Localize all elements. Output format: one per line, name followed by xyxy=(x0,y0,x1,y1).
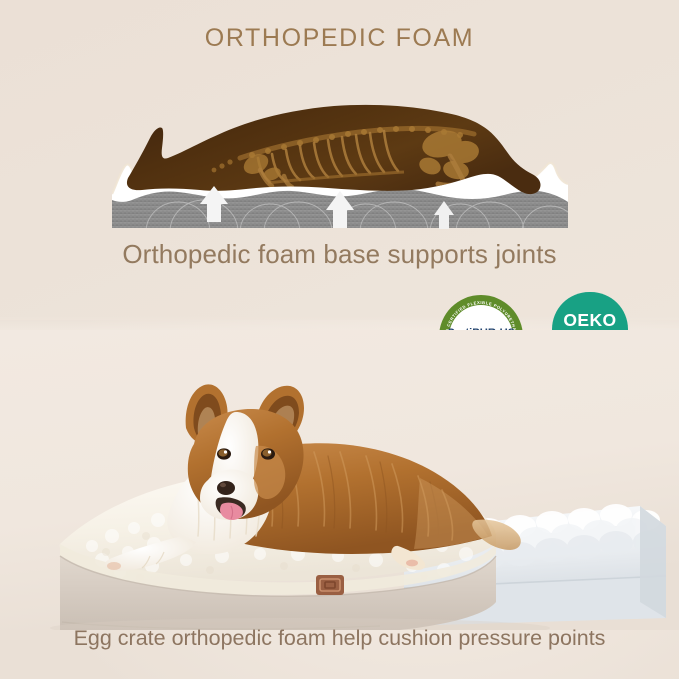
product-infographic: ORTHOPEDIC FOAM xyxy=(0,0,679,679)
bottom-caption: Egg crate orthopedic foam help cushion p… xyxy=(0,626,679,651)
dog-nose xyxy=(217,481,235,495)
foam-cross-section-diagram xyxy=(112,82,568,234)
page-title: ORTHOPEDIC FOAM xyxy=(0,24,679,53)
dog-on-bed-photo xyxy=(0,330,679,630)
brand-logo-tag xyxy=(316,575,344,595)
subtitle-text: Orthopedic foam base supports joints xyxy=(0,239,679,270)
dog-paw-pad xyxy=(107,562,121,570)
